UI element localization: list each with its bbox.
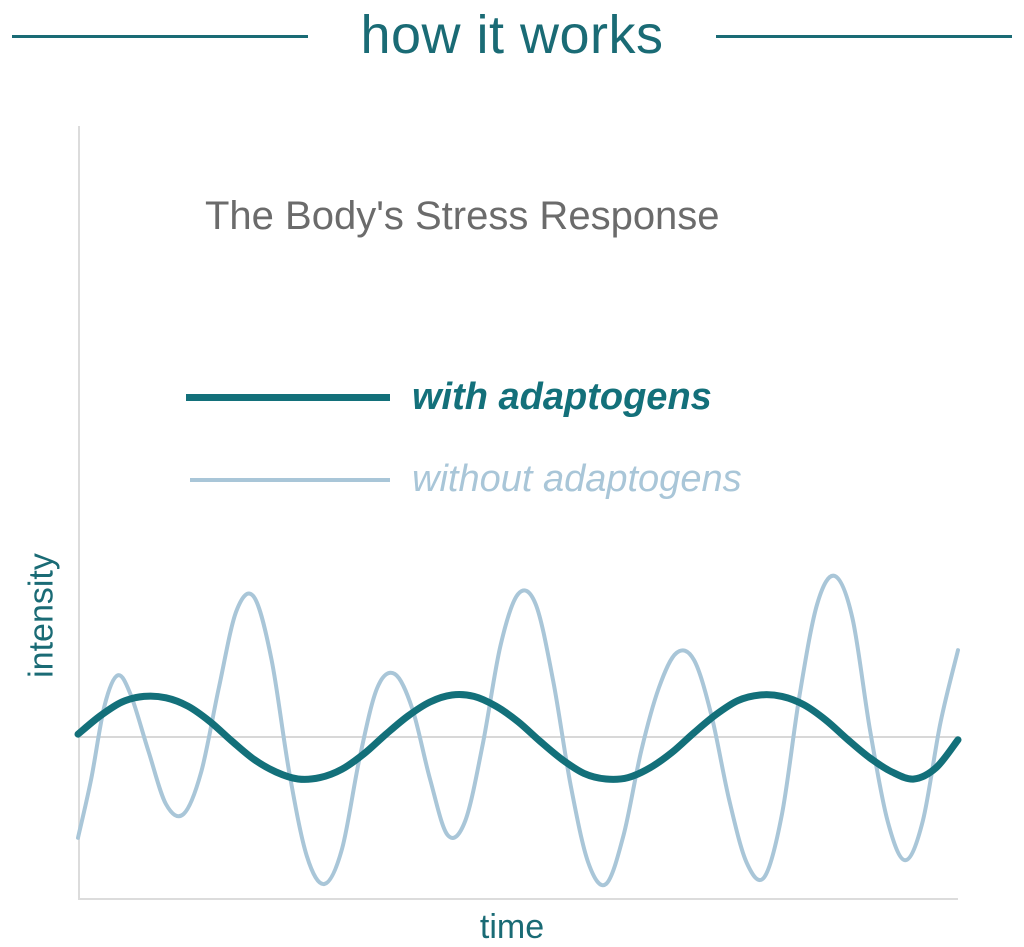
series-line-without-adaptogens (78, 576, 958, 886)
header-rule-right (716, 35, 1012, 38)
y-axis-label: intensity (23, 516, 62, 716)
page-header: how it works (0, 0, 1024, 76)
x-axis-label: time (0, 908, 1024, 947)
stress-response-chart: The Body's Stress Response with adaptoge… (0, 76, 1024, 947)
waveform-plot (0, 76, 1024, 947)
